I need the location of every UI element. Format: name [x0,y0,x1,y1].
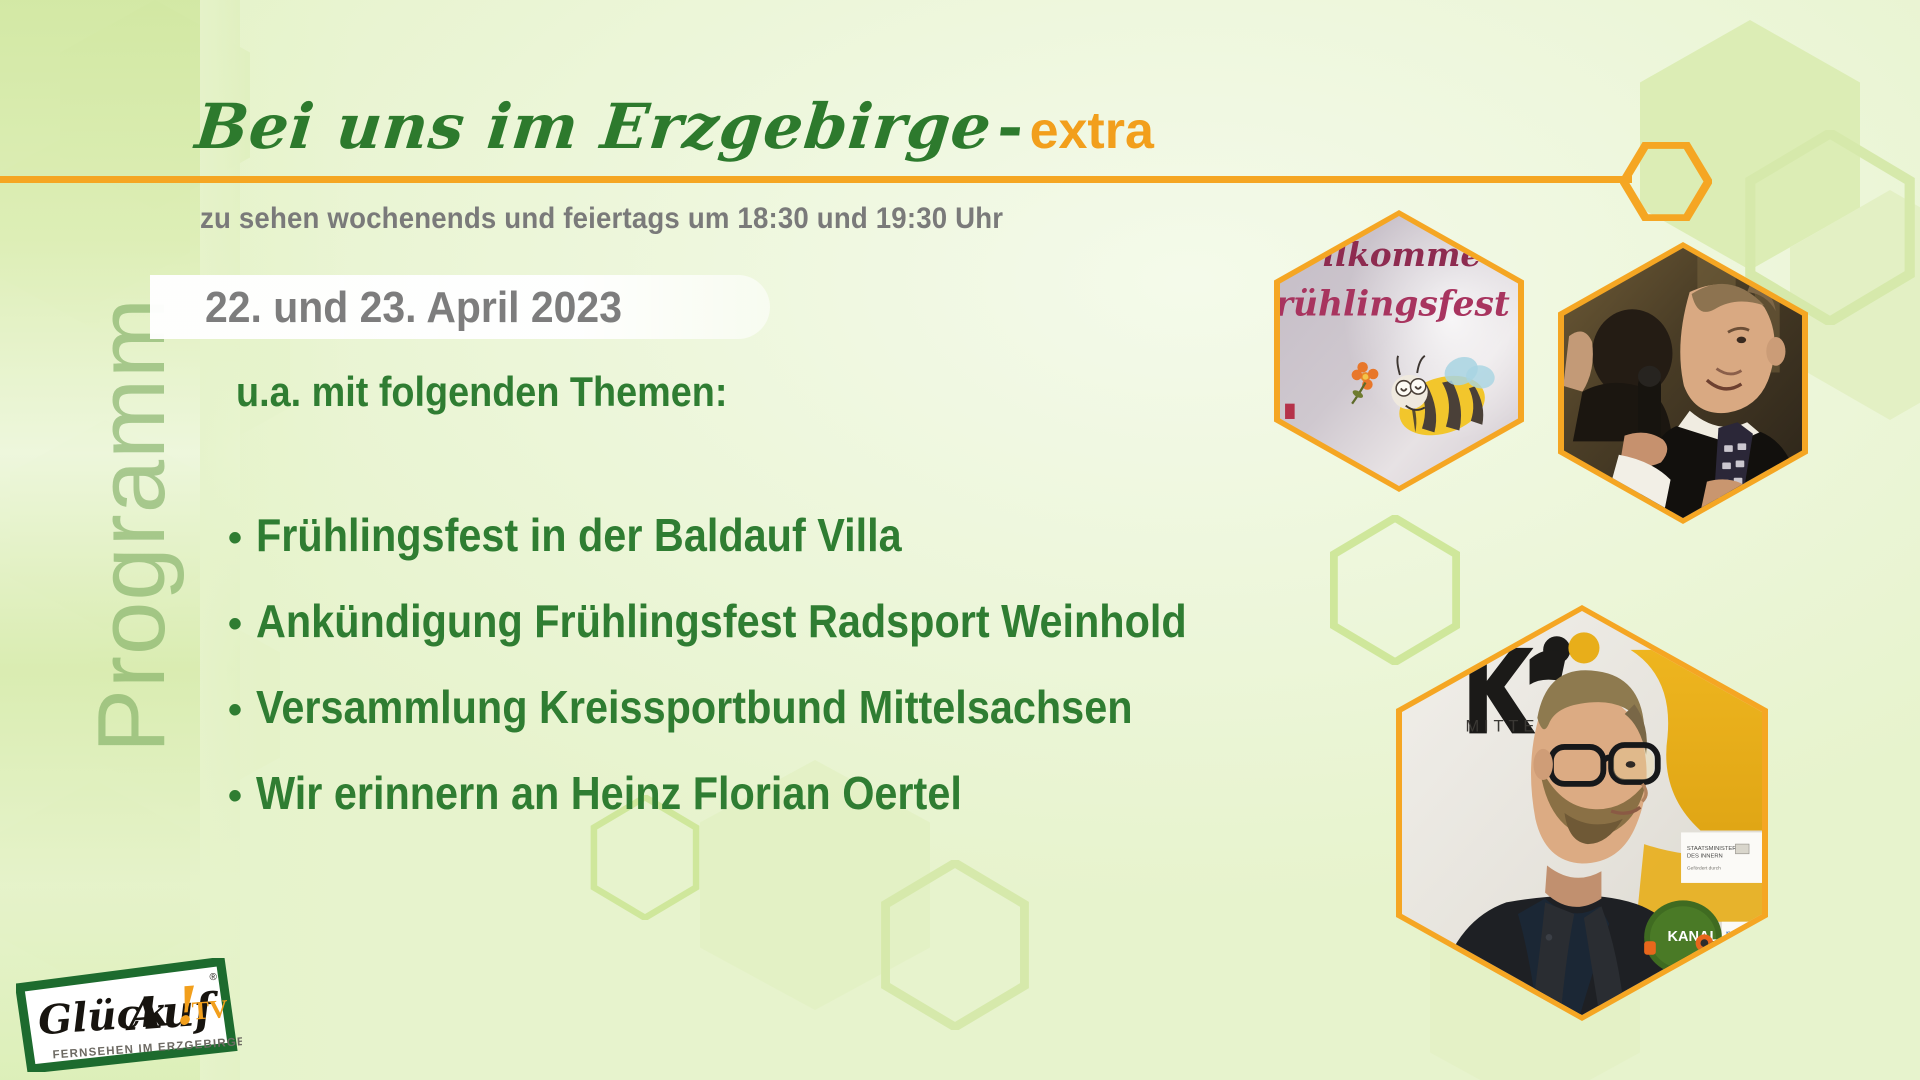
photo-hex-clip [1564,248,1802,518]
list-item: • Versammlung Kreissportbund Mittelsachs… [228,684,1348,730]
divider-end-hexagon-icon [1620,142,1712,222]
broadcast-program-slide: Programm Bei uns im Erzgebirge-extra zu … [0,0,1920,1080]
bullet-dot-icon: • [228,690,242,730]
glueckauf-tv-logo: Glück Auf ! TV ® FERNSEHEN IM ERZGEBIRGE [16,958,242,1072]
photo-hex-clip: llkomme rühlingsfest [1280,216,1518,486]
list-item-label: Versammlung Kreissportbund Mittelsachsen [256,684,1133,730]
page-title-main: Bei uns im Erzgebirge [192,90,995,163]
hexagon-outline [880,860,1030,1030]
hexagon-shape [1790,190,1920,420]
svg-text:TV: TV [191,994,229,1025]
svg-text:®: ® [209,972,218,984]
header-divider-rule [0,176,1632,183]
broadcast-times-subtitle: zu sehen wochenends und feiertags um 18:… [200,202,1003,236]
topics-intro: u.a. mit folgenden Themen: [236,368,727,416]
bullet-dot-icon: • [228,518,242,558]
svg-text:Gefördert durch: Gefördert durch [1687,865,1721,871]
page-title-extra: extra [1030,105,1154,157]
list-item: • Wir erinnern an Heinz Florian Oertel [228,770,1348,816]
svg-text:DES INNERN: DES INNERN [1687,854,1723,860]
list-item-label: Wir erinnern an Heinz Florian Oertel [256,770,962,816]
photo-hex-clip: MITTEL STAATSMINISTERIUM DES INNERN Gefö… [1402,611,1762,1015]
list-item: • Frühlingsfest in der Baldauf Villa [228,512,1348,558]
list-item-label: Frühlingsfest in der Baldauf Villa [256,512,902,558]
page-title-dash: - [988,90,1034,163]
list-item-label: Ankündigung Frühlingsfest Radsport Weinh… [256,598,1187,644]
bullet-dot-icon: • [228,776,242,816]
svg-text:rühlingsfest: rühlingsfest [1280,285,1510,325]
photo-fruehlingsfest-poster: llkomme rühlingsfest [1274,210,1524,492]
broadcast-date: 22. und 23. April 2023 [205,283,622,333]
page-title: Bei uns im Erzgebirge-extra [193,96,1158,158]
photo-kreissportbund-interview: MITTEL STAATSMINISTERIUM DES INNERN Gefö… [1396,605,1768,1021]
list-item: • Ankündigung Frühlingsfest Radsport Wei… [228,598,1348,644]
bullet-dot-icon: • [228,604,242,644]
topics-list: • Frühlingsfest in der Baldauf Villa • A… [228,512,1348,856]
photo-heinz-florian-oertel [1558,242,1808,524]
